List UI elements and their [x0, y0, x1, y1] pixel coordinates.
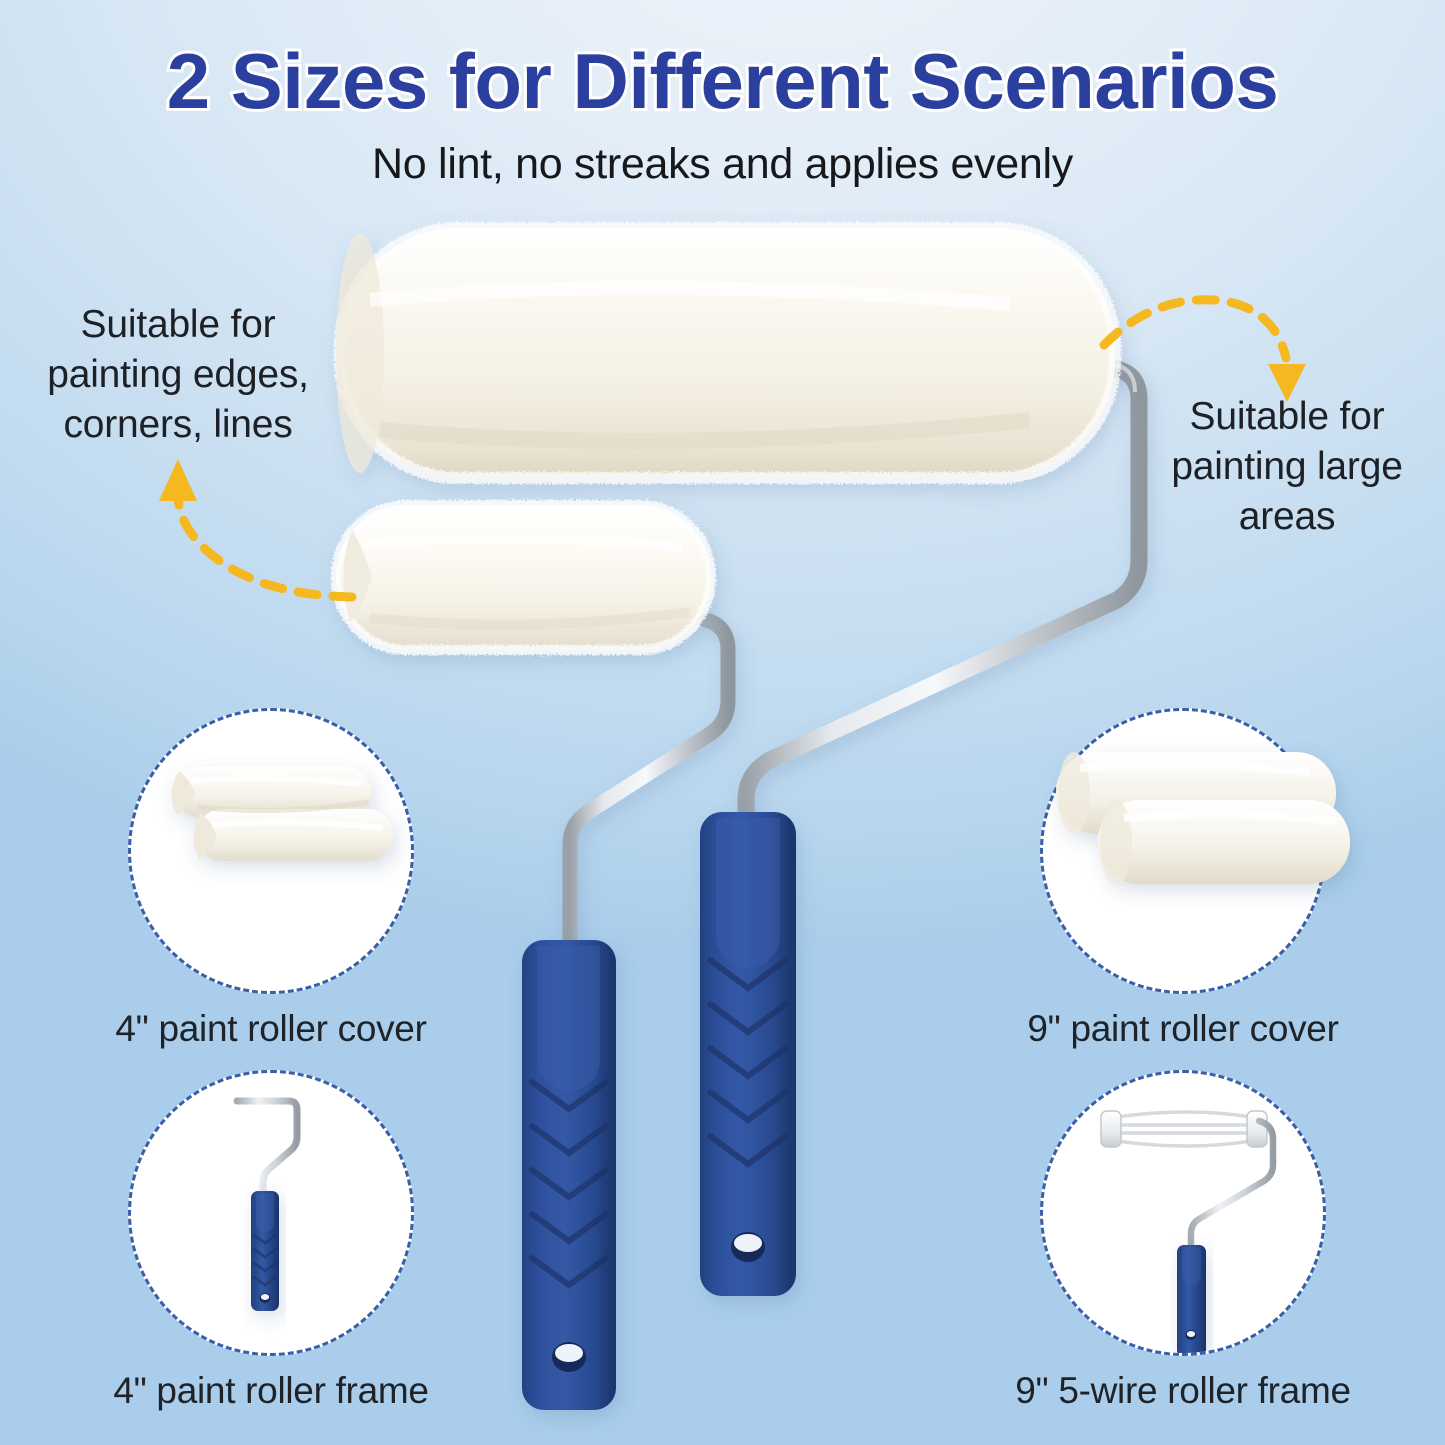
thumbnail-frame-4[interactable]: 4" paint roller frame	[128, 1070, 414, 1356]
thumbnail-cover-9[interactable]: 9" paint roller cover	[1040, 708, 1326, 994]
two-4in-roller-covers-art	[131, 711, 411, 991]
9in-5wire-roller-frame-art	[1043, 1073, 1323, 1353]
two-9in-roller-covers-art	[1040, 708, 1326, 994]
roller-9in-handle	[700, 812, 796, 1296]
thumbnail-disc	[128, 1070, 414, 1356]
4in-roller-frame-art	[131, 1073, 411, 1353]
thumbnail-cover-4[interactable]: 4" paint roller cover	[128, 708, 414, 994]
thumbnail-disc	[1040, 1070, 1326, 1356]
thumbnail-label-frame-4: 4" paint roller frame	[113, 1370, 428, 1412]
thumbnail-label-cover-4: 4" paint roller cover	[115, 1008, 426, 1050]
callout-left-text: Suitable for painting edges, corners, li…	[18, 300, 338, 450]
roller-9in-cover	[336, 228, 1115, 478]
roller-4in-cover	[336, 505, 711, 650]
thumbnail-label-cover-9: 9" paint roller cover	[1027, 1008, 1338, 1050]
roller-4in-handle	[522, 940, 616, 1410]
thumbnail-frame-9[interactable]: 9" 5-wire roller frame	[1040, 1070, 1326, 1356]
callout-right-text: Suitable for painting large areas	[1142, 392, 1432, 542]
thumbnail-disc	[128, 708, 414, 994]
infographic-canvas: 2 Sizes for Different Scenarios No lint,…	[0, 0, 1445, 1445]
thumbnail-label-frame-9: 9" 5-wire roller frame	[1015, 1370, 1351, 1412]
